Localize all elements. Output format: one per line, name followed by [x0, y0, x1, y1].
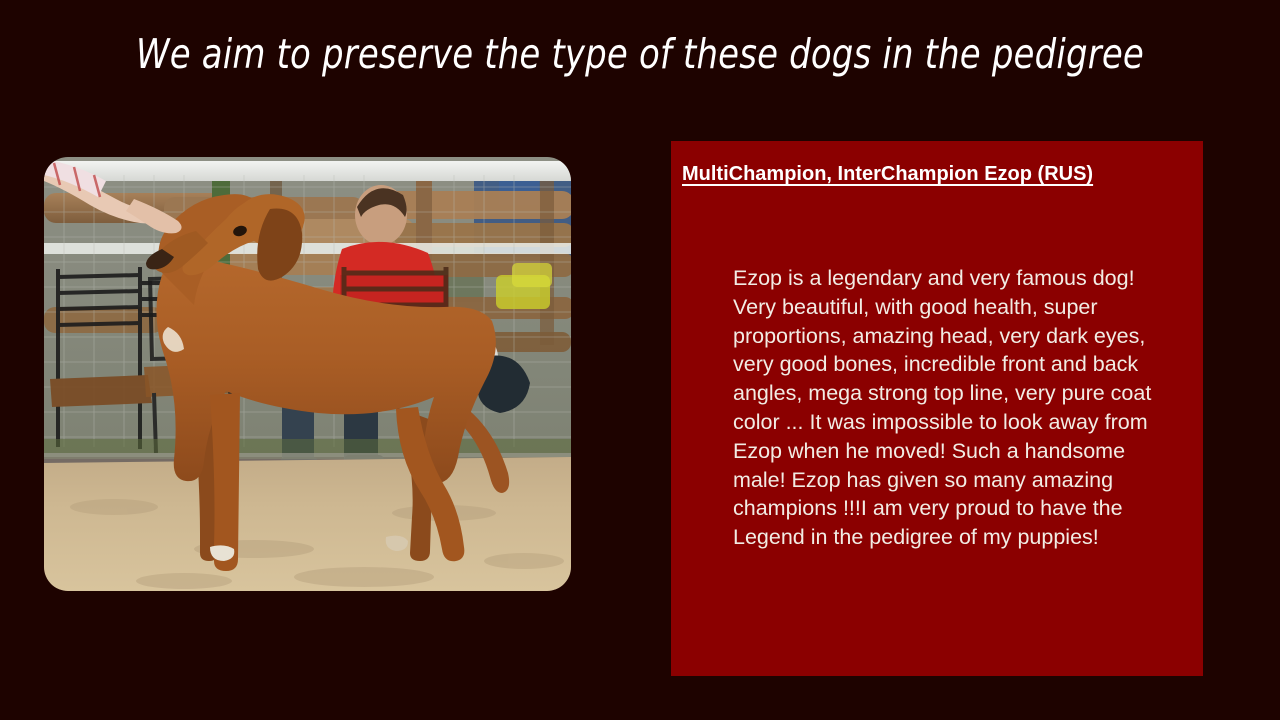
slide-title: We aim to preserve the type of these dog… [51, 30, 1229, 78]
presentation-slide: We aim to preserve the type of these dog… [0, 0, 1280, 720]
dog-photo [44, 157, 571, 591]
dog-photo-reflection [44, 595, 571, 720]
dog-photo-reflection-image [44, 595, 571, 720]
panel-body-text: Ezop is a legendary and very famous dog!… [733, 264, 1158, 552]
dog-photo-image [44, 157, 571, 591]
panel-heading: MultiChampion, InterChampion Ezop (RUS) [682, 163, 1093, 186]
description-panel: MultiChampion, InterChampion Ezop (RUS) … [671, 141, 1203, 676]
